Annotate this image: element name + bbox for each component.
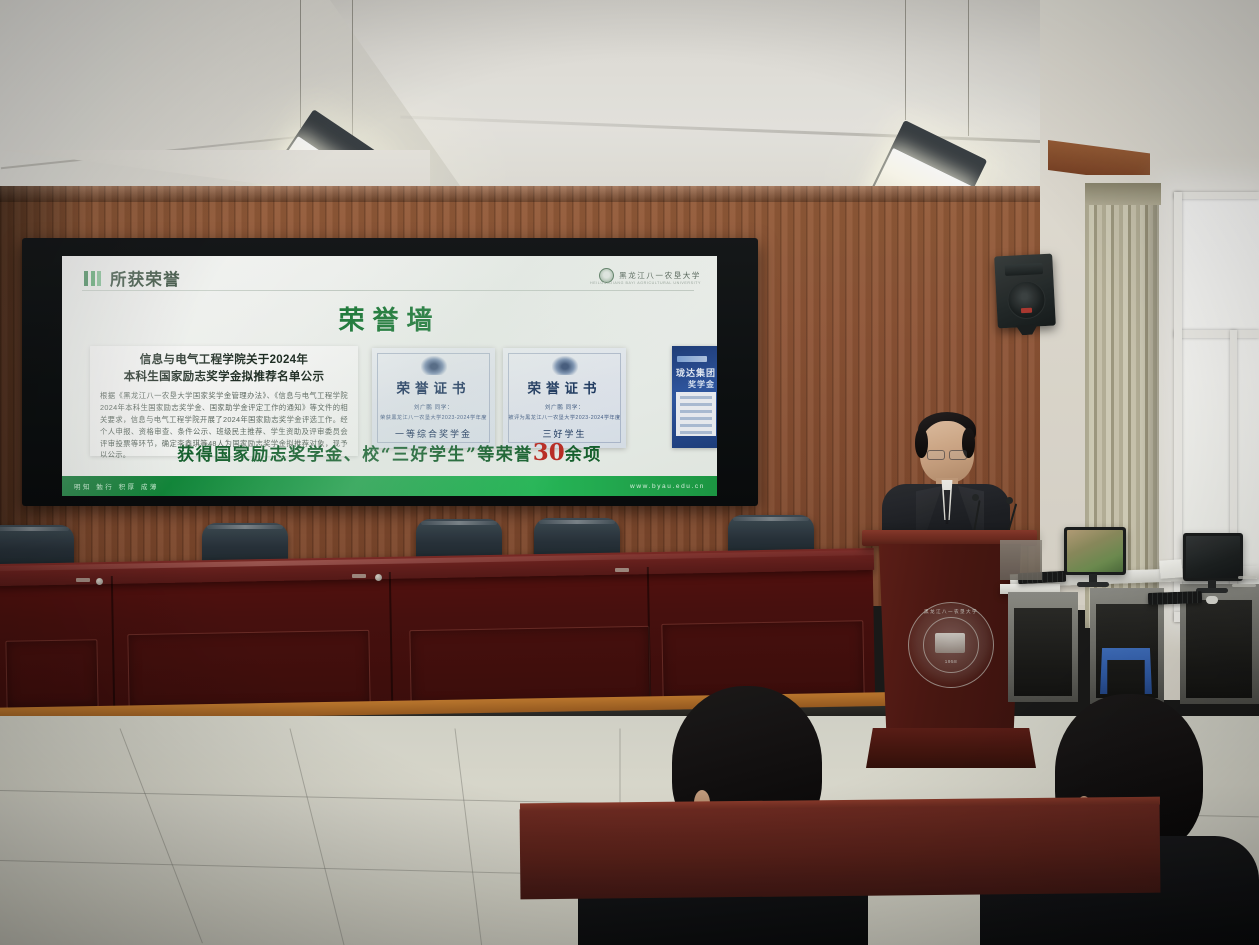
scholarship-poster: 珑达集团 奖学金 (672, 346, 717, 448)
lamp-suspension-wire (300, 0, 301, 128)
poster-text-card (676, 392, 716, 436)
window-frame-left (1174, 192, 1182, 622)
desk-panel (5, 639, 98, 709)
certificate-detail: 荣获黑龙江八一农垦大学2023-2024学年度 (377, 414, 490, 421)
desk-cables (1238, 576, 1256, 579)
desk-hardware (375, 574, 382, 581)
university-name: 黑龙江八一农垦大学 (619, 270, 701, 281)
podium-base (866, 728, 1036, 768)
desk-panel (127, 630, 370, 710)
footer-motto: 明知 勉行 积厚 成薄 (74, 481, 159, 491)
computer-monitor-right (1183, 533, 1243, 581)
curtain-rod-header (1085, 183, 1161, 205)
speaker-horn (1005, 263, 1044, 276)
certificate-recipient: 刘广鹏 同学： (377, 403, 490, 411)
lamp-suspension-wire (905, 0, 906, 120)
document-heading-line2: 本科生国家励志奖学金拟推荐名单公示 (100, 369, 348, 386)
presentation-room-photo: 所获荣誉 黑龙江八一农垦大学 HEILONGJIANG BAYI AGRICUL… (0, 0, 1259, 945)
microphone-head (1006, 497, 1013, 504)
paper-sheet (1159, 559, 1182, 578)
slide-header: 所获荣誉 (84, 266, 181, 290)
emblem-book-icon (935, 633, 965, 653)
caption-number: 30 (533, 439, 565, 466)
poster-title-line2: 奖学金 (688, 379, 715, 390)
desk-cabinet-opening (1014, 608, 1072, 696)
monitor-screen-left (1067, 530, 1123, 572)
university-name-en: HEILONGJIANG BAYI AGRICULTURAL UNIVERSIT… (590, 281, 701, 285)
desk-nameplate (615, 568, 629, 572)
honor-certificate-2: 荣誉证书 刘广鹏 同学： 被评为黑龙江八一农垦大学2023-2024学年度 三好… (503, 348, 626, 448)
caption-suffix: 余项 (565, 445, 602, 465)
slide-header-title: 所获荣誉 (110, 266, 181, 290)
slide-caption: 获得国家励志奖学金、校“三好学生”等荣誉30余项 (62, 439, 717, 466)
window-frame-top (1174, 192, 1259, 199)
emblem-year: 1958 (909, 659, 993, 664)
desk-cables (1232, 584, 1256, 587)
monitor-base (1077, 582, 1109, 587)
audience-bench (520, 803, 1161, 900)
computer-mouse (1206, 596, 1218, 604)
slide-header-rule (82, 290, 694, 291)
desk-hardware (96, 578, 103, 585)
keyboard-right (1148, 591, 1202, 605)
speaker-brand-badge (1021, 308, 1032, 314)
desk-nameplate (76, 578, 90, 582)
window-frame-mullion (1174, 330, 1259, 338)
wall-speaker (994, 254, 1056, 329)
caption-prefix: 获得国家励志奖学金、校“三好学生”等荣誉 (177, 445, 533, 465)
poster-title-line1: 珑达集团 (676, 366, 716, 379)
slide-footer-bar: 明知 勉行 积厚 成薄 www.byau.edu.cn (62, 476, 717, 496)
monitor-screen-right (1186, 536, 1240, 578)
wood-wall-top-edge (0, 186, 1085, 202)
emblem-top-text: 黑龙江八一农垦大学 (909, 609, 993, 615)
certificate-emblem-icon (421, 356, 447, 375)
green-bars-icon (84, 271, 101, 286)
honor-certificate-1: 荣誉证书 刘广鹏 同学： 荣获黑龙江八一农垦大学2023-2024学年度 一等综… (372, 348, 495, 448)
poster-logo-icon (677, 356, 707, 362)
certificate-recipient: 刘广鹏 同学： (508, 403, 621, 411)
speaker-cone (1007, 280, 1047, 320)
certificate-detail: 被评为黑龙江八一农垦大学2023-2024学年度 (508, 414, 621, 421)
microphone-head (972, 494, 979, 501)
footer-url: www.byau.edu.cn (630, 483, 705, 490)
lamp-suspension-wire (352, 0, 353, 140)
certificate-title: 荣誉证书 (377, 377, 490, 397)
certificate-title: 荣誉证书 (508, 377, 621, 397)
lamp-suspension-wire (968, 0, 969, 136)
desk-cabinet-opening (1186, 600, 1252, 698)
presentation-slide: 所获荣誉 黑龙江八一农垦大学 HEILONGJIANG BAYI AGRICUL… (62, 256, 717, 496)
podium-university-emblem: 黑龙江八一农垦大学 1958 (908, 602, 994, 688)
document-heading-line1: 信息与电气工程学院关于2024年 (100, 352, 348, 369)
slide-title: 荣誉墙 (62, 300, 717, 337)
chair-back-right-area (1000, 540, 1042, 580)
desk-nameplate (352, 574, 366, 578)
presenter-glasses (927, 450, 967, 458)
desk-panel (409, 626, 650, 706)
computer-monitor-left (1064, 527, 1126, 575)
certificate-emblem-icon (552, 356, 578, 375)
